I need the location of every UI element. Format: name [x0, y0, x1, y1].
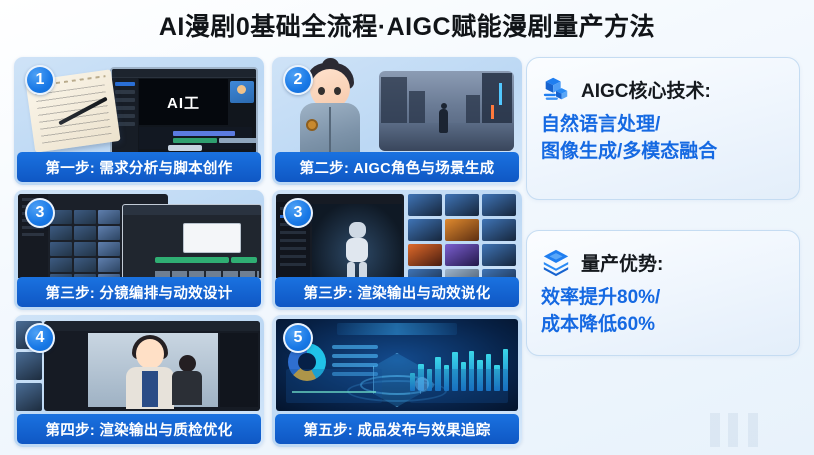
step-caption-6: 第五步: 成品发布与效果追踪: [275, 414, 519, 444]
steps-grid: AI工 1 第一步: 需求分析与脚本创作: [14, 57, 520, 447]
step-badge-4: 3: [283, 198, 313, 228]
page-title: AI漫剧0基础全流程·AIGC赋能漫剧量产方法: [0, 0, 814, 52]
content-stage: AI工 1 第一步: 需求分析与脚本创作: [0, 52, 814, 455]
info-panel-core-tech-title: AIGC核心技术:: [581, 76, 711, 103]
info-panel-advantages-header: 量产优势:: [541, 247, 785, 277]
monitor-screen-text: AI工: [167, 92, 200, 113]
scene-illustration: [379, 71, 514, 151]
step-card-5[interactable]: 4 第四步: 渲染输出与质检优化: [14, 315, 264, 447]
avatar: [230, 81, 254, 103]
monitor-illustration: AI工: [110, 67, 258, 153]
step-card-1[interactable]: AI工 1 第一步: 需求分析与脚本创作: [14, 57, 264, 185]
step-badge-1: 1: [25, 65, 55, 95]
step-caption-1: 第一步: 需求分析与脚本创作: [17, 152, 261, 182]
step-caption-3: 第三步: 分镜编排与动效设计: [17, 277, 261, 307]
cube-stack-icon: [541, 74, 571, 104]
step-badge-5: 4: [25, 323, 55, 353]
robot-illustration: [342, 222, 372, 278]
info-panel-advantages-line-1: 效率提升80%/: [541, 285, 785, 312]
step-caption-2: 第二步: AIGC角色与场景生成: [275, 152, 519, 182]
info-panel-column: AIGC核心技术: 自然语言处理/ 图像生成/多模态融合 量产优势: 效率提升8…: [520, 52, 814, 455]
render-gallery-grid: [408, 194, 518, 278]
info-panel-advantages: 量产优势: 效率提升80%/ 成本降低60%: [526, 230, 800, 356]
step-caption-4: 第三步: 渲染输出与动效说化: [275, 277, 519, 307]
step-badge-3: 3: [25, 198, 55, 228]
info-panel-advantages-line-2: 成本降低60%: [541, 312, 785, 339]
man-illustration: [170, 355, 204, 405]
info-panel-core-tech-line-1: 自然语言处理/: [541, 112, 785, 139]
steps-grid-wrapper: AI工 1 第一步: 需求分析与脚本创作: [0, 52, 520, 455]
step-caption-5: 第四步: 渲染输出与质检优化: [17, 414, 261, 444]
step-card-2[interactable]: 2 第二步: AIGC角色与场景生成: [272, 57, 522, 185]
timeline-editor: [122, 204, 262, 278]
step-badge-6: 5: [283, 323, 313, 353]
info-panel-core-tech-line-2: 图像生成/多模态融合: [541, 139, 785, 166]
info-panel-core-tech: AIGC核心技术: 自然语言处理/ 图像生成/多模态融合: [526, 57, 800, 200]
info-panel-advantages-title: 量产优势:: [581, 249, 663, 276]
step-card-3[interactable]: 3 第三步: 分镜编排与动效设计: [14, 190, 264, 310]
info-panel-core-tech-header: AIGC核心技术:: [541, 74, 785, 104]
step-badge-2: 2: [283, 65, 313, 95]
step-card-4[interactable]: 3 第三步: 渲染输出与动效说化: [272, 190, 522, 310]
step-card-6[interactable]: 5 第五步: 成品发布与效果追踪: [272, 315, 522, 447]
review-editor: [44, 321, 260, 411]
layers-icon: [541, 247, 571, 277]
